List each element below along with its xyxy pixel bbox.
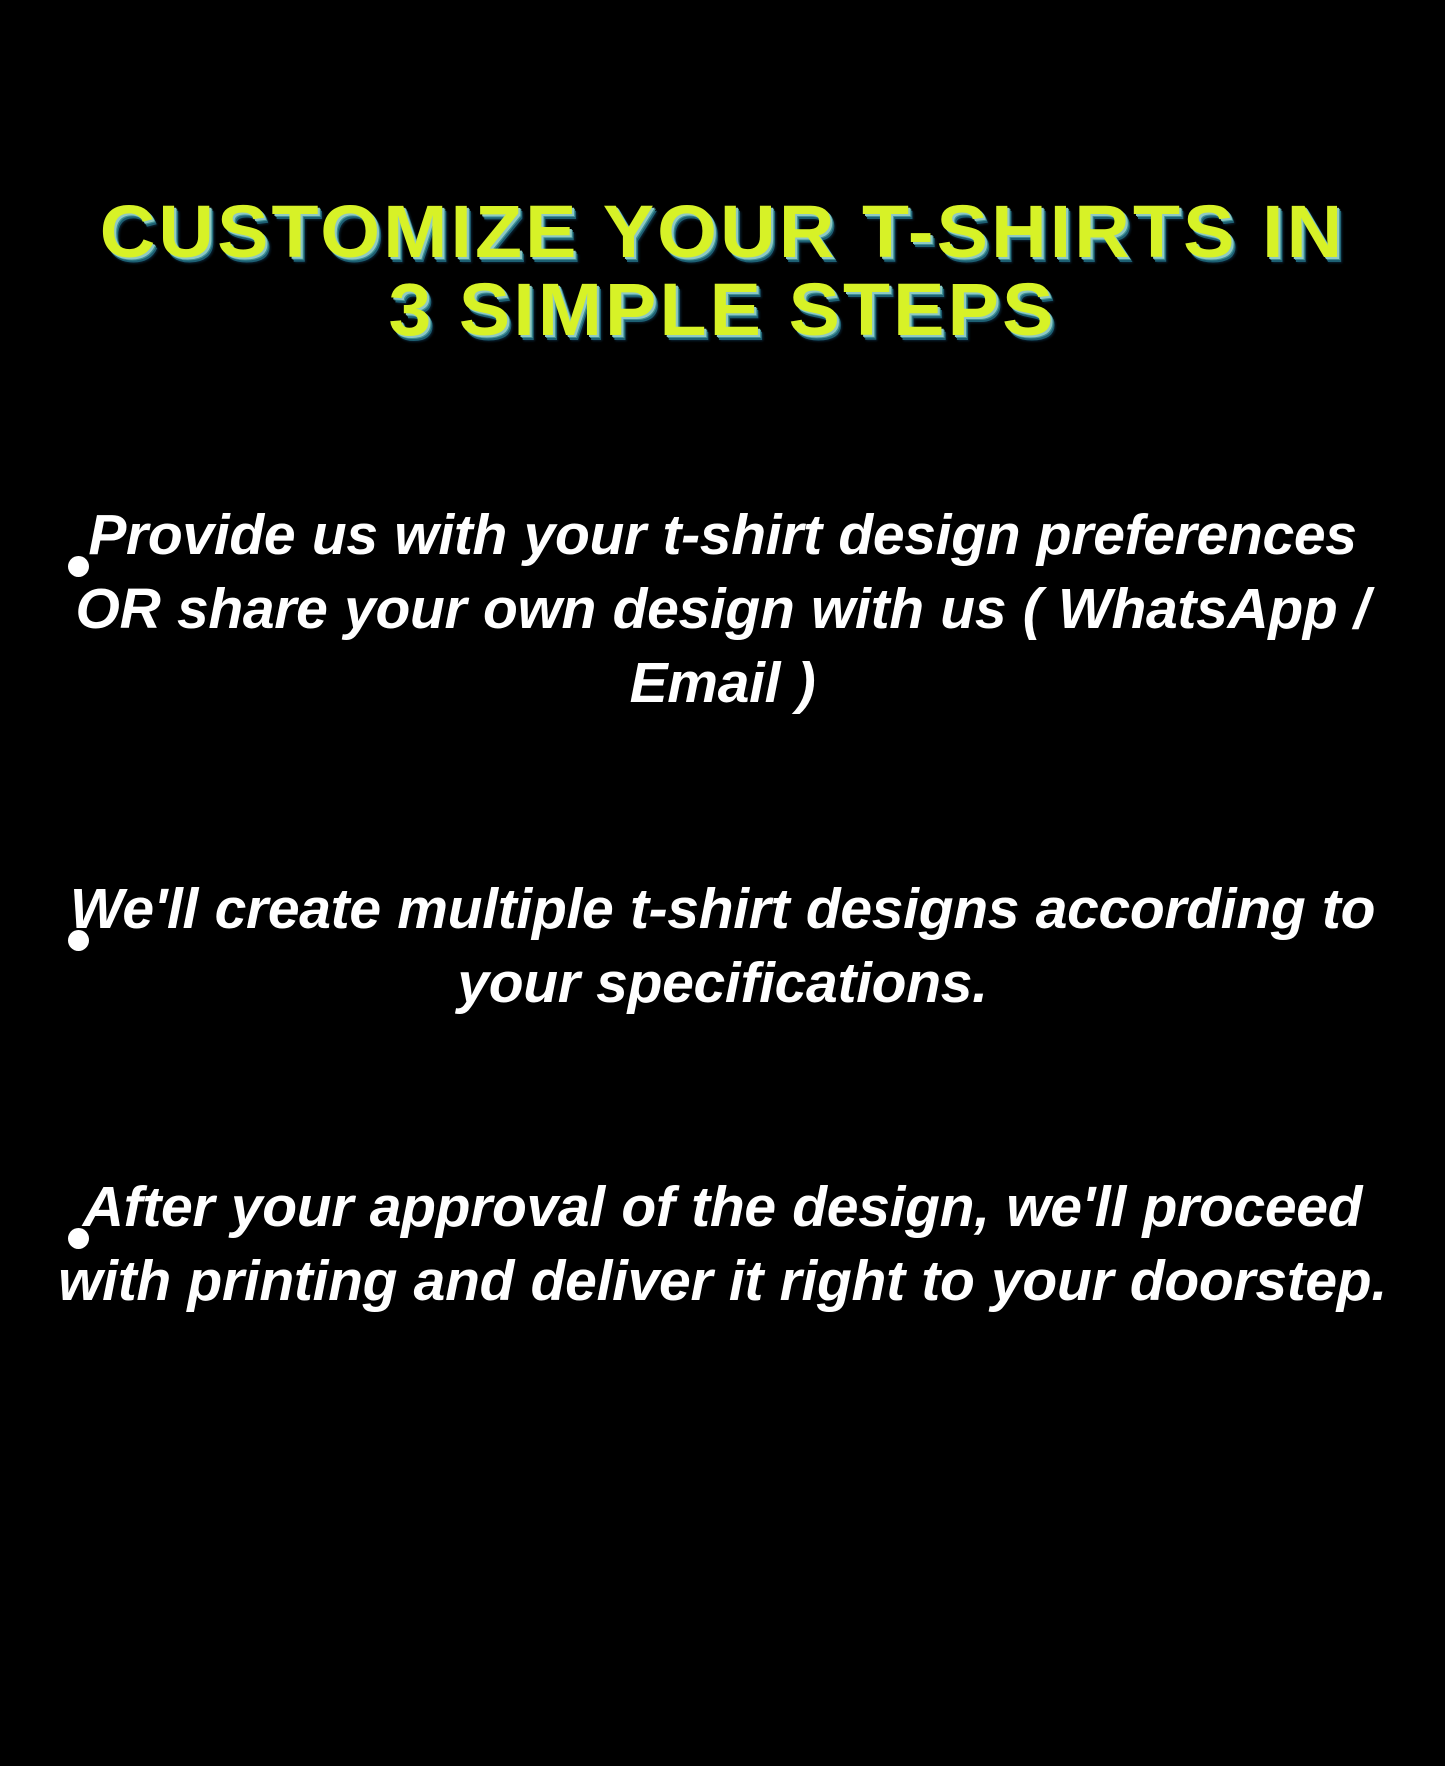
- bullet-dot-icon: [68, 556, 89, 577]
- page-title: CUSTOMIZE YOUR T-SHIRTS IN 3 SIMPLE STEP…: [0, 196, 1445, 346]
- list-item: Provide us with your t-shirt design pref…: [34, 498, 1411, 720]
- page-title-line-1: CUSTOMIZE YOUR T-SHIRTS IN: [0, 196, 1445, 268]
- step-text: We'll create multiple t-shirt designs ac…: [34, 872, 1411, 1020]
- promo-poster: CUSTOMIZE YOUR T-SHIRTS IN 3 SIMPLE STEP…: [0, 0, 1445, 1766]
- step-text: Provide us with your t-shirt design pref…: [34, 498, 1411, 720]
- page-title-line-2: 3 SIMPLE STEPS: [0, 274, 1445, 346]
- bullet-dot-icon: [68, 1228, 89, 1249]
- steps-list: Provide us with your t-shirt design pref…: [0, 498, 1445, 1318]
- list-item: After your approval of the design, we'll…: [34, 1170, 1411, 1318]
- step-text: After your approval of the design, we'll…: [34, 1170, 1411, 1318]
- bullet-dot-icon: [68, 930, 89, 951]
- list-item: We'll create multiple t-shirt designs ac…: [34, 872, 1411, 1020]
